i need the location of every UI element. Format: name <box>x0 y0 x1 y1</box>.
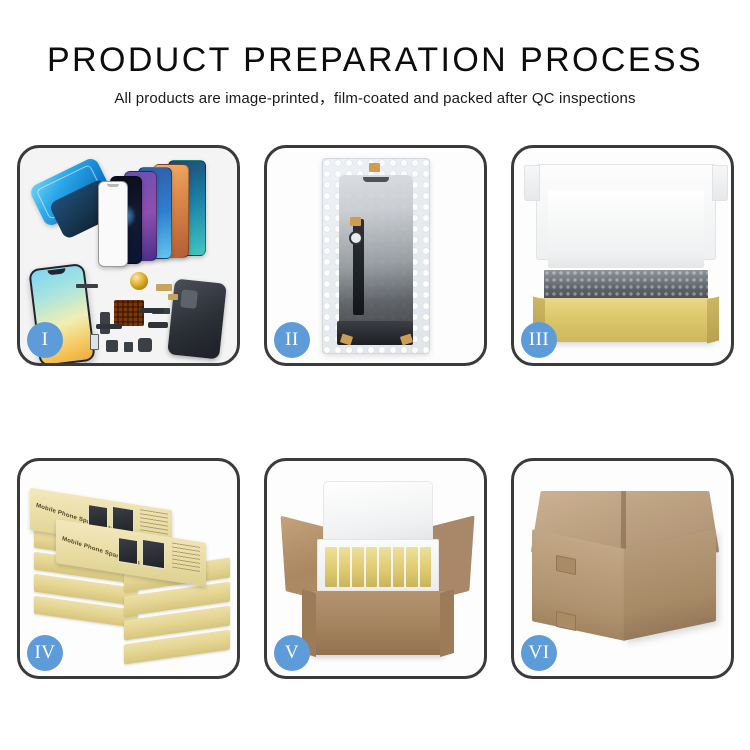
step-badge-2: II <box>274 322 310 358</box>
page-subtitle: All products are image-printed，film-coat… <box>0 89 750 108</box>
yellow-box-icon <box>406 547 418 587</box>
part-icon <box>138 338 152 352</box>
carton-left-face-icon <box>532 529 624 641</box>
part-icon <box>168 294 178 300</box>
part-icon <box>76 284 98 288</box>
phone-screen-stack <box>98 160 228 275</box>
carton-right-face-icon <box>624 529 716 641</box>
process-step-grid: I II <box>17 145 735 679</box>
yellow-box-icon <box>366 547 378 587</box>
step-panel-1: I <box>17 145 240 366</box>
tape-icon <box>350 217 361 226</box>
foam-sheet-icon <box>548 190 704 268</box>
box-window-icon <box>142 539 165 570</box>
carton-tape-icon <box>556 611 576 631</box>
yellow-box-icon <box>352 547 364 587</box>
header: PRODUCT PREPARATION PROCESS All products… <box>0 40 750 108</box>
step-panel-3: III <box>511 145 734 366</box>
part-icon <box>106 340 118 352</box>
flex-cable-icon <box>148 322 168 328</box>
step-badge-3: III <box>521 322 557 358</box>
yellow-box-icon <box>339 547 351 587</box>
step-badge-4: IV <box>27 635 63 671</box>
part-icon <box>100 312 110 334</box>
box-window-icon <box>118 537 138 565</box>
box-spec-lines <box>172 542 200 573</box>
step-badge-6: VI <box>521 635 557 671</box>
bubble-wrap-bag-icon <box>322 158 430 354</box>
yellow-box-row <box>325 547 431 587</box>
yellow-box-icon <box>393 547 405 587</box>
step-panel-4: Mobile Phone Spare Parts Mobile Phone Sp… <box>17 458 240 679</box>
step-panel-5: V <box>264 458 487 679</box>
speaker-component-icon <box>130 272 148 290</box>
part-icon <box>156 284 172 291</box>
screen-protector-icon <box>98 181 128 267</box>
step-panel-2: II <box>264 145 487 366</box>
chip-grid-icon <box>114 300 144 326</box>
spare-parts-group <box>76 278 216 363</box>
yellow-box-icon <box>325 547 337 587</box>
connector-icon <box>349 231 363 245</box>
page-title: PRODUCT PREPARATION PROCESS <box>0 40 750 80</box>
yellow-box-icon <box>420 547 432 587</box>
box-stack: Mobile Phone Spare Parts Mobile Phone Sp… <box>28 483 234 661</box>
flex-cable-icon <box>140 308 164 313</box>
yellow-box-icon <box>379 547 391 587</box>
carton-body-icon <box>311 591 445 655</box>
kraft-inner-box-icon <box>538 298 714 342</box>
tape-icon <box>369 163 380 172</box>
wrapped-screen-icon <box>339 175 413 337</box>
part-icon <box>90 334 99 350</box>
product-preparation-process-infographic: PRODUCT PREPARATION PROCESS All products… <box>0 0 750 750</box>
step-badge-5: V <box>274 635 310 671</box>
step-panel-6: VI <box>511 458 734 679</box>
part-icon <box>124 342 133 352</box>
foam-box-lid-icon <box>323 481 433 543</box>
flex-cable-icon <box>96 324 122 329</box>
step-badge-1: I <box>27 322 63 358</box>
